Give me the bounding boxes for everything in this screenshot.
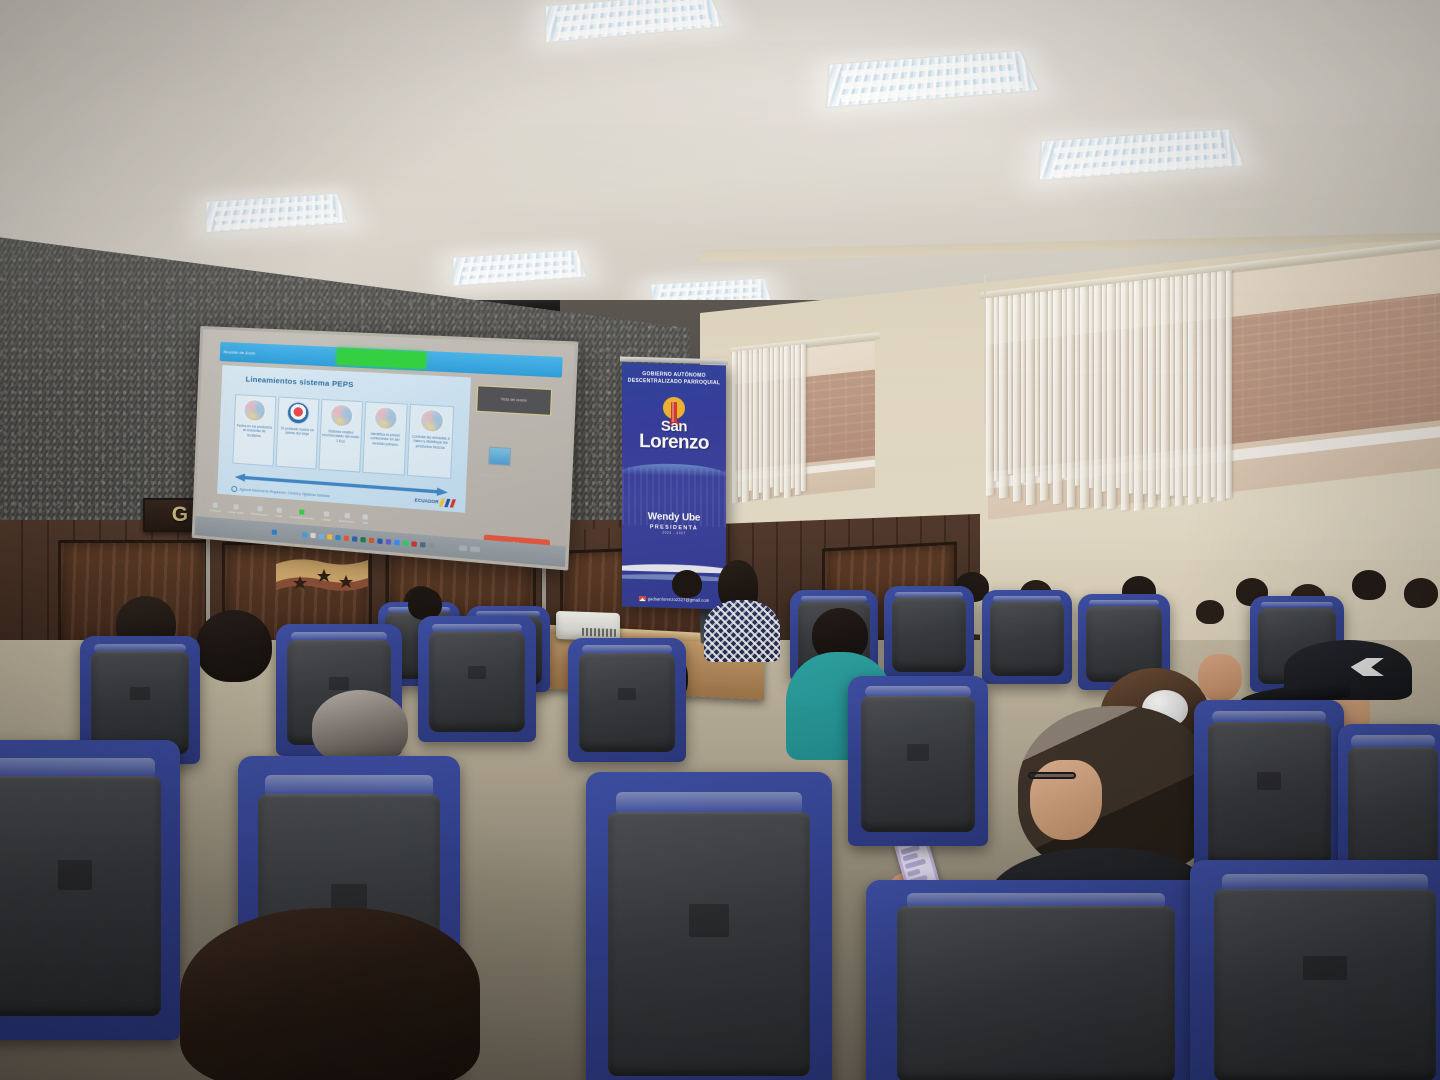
slide-card-image-icon bbox=[419, 409, 444, 433]
excel-icon[interactable] bbox=[360, 537, 365, 543]
settings-icon[interactable] bbox=[428, 543, 434, 549]
seat[interactable] bbox=[866, 880, 1206, 1080]
audience-hair-gray bbox=[312, 690, 408, 764]
zoom-active-speaker-tile[interactable]: Vista del orador bbox=[476, 385, 551, 415]
audience-hair-front bbox=[180, 908, 480, 1080]
seat[interactable] bbox=[0, 740, 180, 1040]
seat[interactable] bbox=[1194, 700, 1344, 880]
task-view-icon[interactable] bbox=[310, 533, 315, 539]
slide-card: Sistema rotativo recomendado del modo 1 … bbox=[318, 399, 363, 473]
ecuador-stripe-red bbox=[450, 499, 456, 507]
zoom-chat-label[interactable]: Chat de la reunión bbox=[475, 472, 505, 478]
teams-icon[interactable] bbox=[385, 539, 391, 545]
zoom-participants-label[interactable]: Participantes bbox=[478, 419, 499, 424]
baseball-cap-icon[interactable] bbox=[1284, 640, 1412, 700]
seat[interactable] bbox=[586, 772, 832, 1080]
seat[interactable] bbox=[982, 590, 1072, 684]
slide-card-image-icon bbox=[244, 399, 267, 423]
zoom-participant-thumbnail[interactable] bbox=[488, 446, 511, 466]
conference-room-photo: G A. Reunión de Zoom Lineamientos sistem… bbox=[0, 0, 1440, 1080]
slide-card-strip: Fecha en los productos al momento de rec… bbox=[233, 394, 454, 479]
share-screen-icon bbox=[299, 509, 304, 515]
banner-person-name: Wendy Ube bbox=[622, 511, 726, 525]
outlook-icon[interactable] bbox=[377, 539, 383, 545]
banner-brand-name: San Lorenzo bbox=[622, 419, 726, 453]
slide-card: Fecha en los productos al momento de rec… bbox=[233, 394, 276, 466]
word-icon[interactable] bbox=[351, 536, 356, 542]
camera-icon bbox=[234, 504, 239, 509]
slide-card-caption: Controla las entradas a mano y distribuy… bbox=[410, 434, 452, 450]
file-explorer-icon[interactable] bbox=[326, 534, 331, 540]
powerpoint-slide: Lineamientos sistema PEPS Fecha en los p… bbox=[217, 365, 471, 512]
pdf-icon[interactable] bbox=[411, 541, 417, 547]
media-icon[interactable] bbox=[419, 542, 425, 548]
slide-card: Controla las entradas a mano y distribuy… bbox=[407, 404, 454, 479]
slide-footer-text: Agencia Nacional de Regulación, Control … bbox=[239, 488, 329, 499]
zoom-control-video[interactable]: Iniciar vídeo bbox=[228, 504, 245, 515]
seat[interactable] bbox=[568, 638, 686, 762]
seat[interactable] bbox=[418, 616, 536, 742]
banner-person-block: Wendy Ube PRESIDENTA 2023 - 2027 bbox=[622, 511, 726, 537]
slide-title: Lineamientos sistema PEPS bbox=[245, 374, 449, 394]
widgets-icon[interactable] bbox=[318, 534, 323, 540]
people-icon bbox=[257, 506, 262, 511]
zoom-control-participants[interactable]: Participantes bbox=[251, 506, 269, 518]
zoom-control-mute[interactable]: Silenciar bbox=[209, 502, 221, 513]
whatsapp-icon[interactable] bbox=[402, 541, 408, 547]
seat[interactable] bbox=[884, 586, 974, 680]
zoom-control-reactions[interactable]: Reacciones bbox=[338, 513, 355, 525]
microphone-icon bbox=[213, 503, 218, 508]
sunglasses-icon bbox=[1028, 772, 1076, 779]
slide-footer-agency-logo: Agencia Nacional de Regulación, Control … bbox=[231, 486, 329, 500]
audience-head bbox=[1196, 600, 1224, 624]
slide-card-caption: Identifica el primer contenedor en ser v… bbox=[365, 432, 406, 448]
audience-head bbox=[672, 570, 702, 598]
zoom-control-record[interactable]: Grabar bbox=[321, 511, 331, 522]
record-icon bbox=[324, 511, 329, 517]
slide-card-image-icon bbox=[374, 406, 398, 430]
chat-icon bbox=[276, 508, 281, 513]
seat[interactable] bbox=[1190, 860, 1440, 1080]
zoom-icon[interactable] bbox=[394, 540, 400, 546]
audience-head bbox=[1404, 578, 1438, 608]
zoom-control-chat[interactable]: Chat bbox=[275, 508, 282, 519]
audience-head bbox=[1198, 654, 1242, 702]
projector-device bbox=[556, 611, 620, 641]
banner-name-line2: Lorenzo bbox=[622, 432, 726, 452]
slide-card-image-icon bbox=[330, 404, 354, 428]
presenter-blouse bbox=[704, 600, 780, 662]
rollup-banner: GOBIERNO AUTÓNOMO DESCENTRALIZADO PARROQ… bbox=[622, 363, 726, 610]
banner-email-row: gadsanlorenzo2327@gmail.com bbox=[622, 596, 726, 604]
zoom-topbar-label: Reunión de Zoom bbox=[223, 349, 255, 356]
slide-card: El producto nuevo va detrás del viejo bbox=[275, 397, 319, 470]
ecuador-brand-mark: ECUADOR bbox=[415, 496, 456, 507]
ecuador-wordmark: ECUADOR bbox=[415, 498, 439, 505]
start-icon[interactable] bbox=[271, 530, 276, 536]
projection-screen-surface: Reunión de Zoom Lineamientos sistema PEP… bbox=[192, 326, 579, 571]
system-tray-clock[interactable] bbox=[469, 546, 479, 552]
more-icon bbox=[363, 514, 368, 520]
slide-card-caption: El producto nuevo va detrás del viejo bbox=[277, 426, 317, 437]
powerpoint-icon[interactable] bbox=[368, 538, 373, 544]
chrome-icon[interactable] bbox=[343, 536, 348, 542]
audience-head bbox=[1352, 570, 1386, 600]
slide-card-image-icon bbox=[286, 401, 309, 425]
search-icon[interactable] bbox=[302, 532, 307, 538]
gmail-icon bbox=[639, 596, 646, 601]
carved-flag-emblem bbox=[272, 556, 372, 604]
zoom-control-more[interactable]: Más bbox=[362, 514, 368, 525]
slide-card-caption: Fecha en los productos al momento de rec… bbox=[235, 424, 274, 439]
projection-screen: Reunión de Zoom Lineamientos sistema PEP… bbox=[192, 326, 579, 571]
banner-wave-white bbox=[622, 548, 726, 573]
agency-logo-mark bbox=[231, 486, 237, 492]
banner-kicker: GOBIERNO AUTÓNOMO DESCENTRALIZADO PARROQ… bbox=[627, 371, 721, 387]
window-left-pane bbox=[735, 338, 875, 503]
blind-cord[interactable] bbox=[984, 274, 986, 424]
zoom-tile-label: Vista del orador bbox=[501, 397, 528, 403]
zoom-side-panel[interactable]: Vista del orador Participantes Chat de l… bbox=[467, 380, 559, 517]
system-tray-language[interactable] bbox=[458, 545, 466, 551]
slide-card: Identifica el primer contenedor en ser v… bbox=[362, 401, 408, 475]
audience-head bbox=[196, 610, 272, 682]
zoom-control-share[interactable]: Compartir pantalla bbox=[289, 509, 315, 521]
slide-card-caption: Sistema rotativo recomendado del modo 1 … bbox=[321, 429, 361, 445]
new-era-logo-icon bbox=[1351, 658, 1384, 676]
reactions-icon bbox=[344, 513, 349, 519]
seat[interactable] bbox=[848, 676, 988, 846]
banner-kicker-line2: DESCENTRALIZADO PARROQUIAL bbox=[628, 378, 720, 387]
banner-email-text: gadsanlorenzo2327@gmail.com bbox=[648, 596, 709, 603]
edge-icon[interactable] bbox=[335, 535, 340, 541]
window-brick-view bbox=[735, 370, 875, 470]
